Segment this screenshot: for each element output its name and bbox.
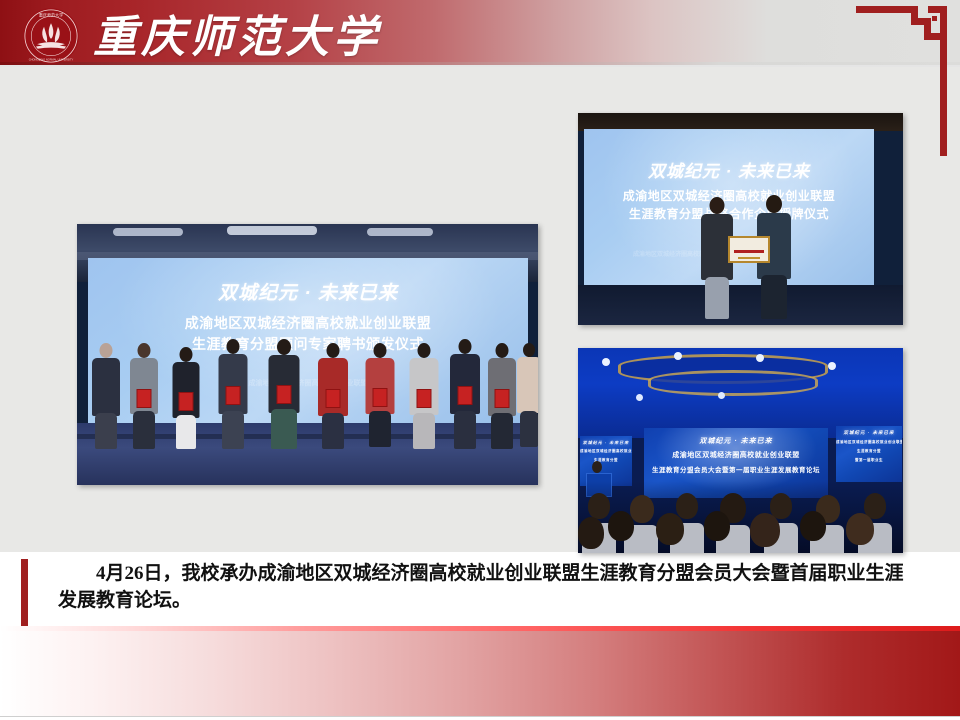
photo-plaque-award: 双城纪元 · 未来已来 成渝地区双城经济圈高校就业创业联盟 生涯教育分盟战略合作…	[578, 113, 903, 325]
slide-root: 重庆师范大学 CHONGQING NORMAL UNIVERSITY 重庆师范大…	[0, 0, 960, 720]
side-led-line-3-right: 暨第一届职业生	[836, 458, 902, 463]
photo-conference-hall: 双城纪元 · 未来已来 成渝地区双城经济圈高校就业创业联盟 生涯教育分盟会员大会…	[578, 348, 903, 553]
side-led-line-1-right: 成渝地区双城经济圈高校就业创业联盟	[836, 440, 902, 445]
svg-text:重庆师范大学: 重庆师范大学	[39, 11, 63, 17]
led-headline: 双城纪元 · 未来已来	[584, 157, 874, 182]
led-line-1: 成渝地区双城经济圈高校就业创业联盟	[644, 450, 828, 460]
side-led-headline: 双城纪元 · 未来已来	[580, 440, 632, 446]
side-led-line-2: 生涯教育分盟	[580, 458, 632, 463]
svg-text:CHONGQING NORMAL UNIVERSITY: CHONGQING NORMAL UNIVERSITY	[29, 57, 74, 61]
led-headline: 双城纪元 · 未来已来	[88, 278, 528, 305]
footer-gradient-band	[0, 631, 960, 716]
side-led-line-1: 成渝地区双城经济圈高校就业创业联盟	[580, 449, 632, 454]
photo-certificate-ceremony: 双城纪元 · 未来已来 成渝地区双城经济圈高校就业创业联盟 生涯教育分盟顾问专家…	[77, 224, 538, 485]
led-headline: 双城纪元 · 未来已来	[644, 436, 828, 446]
led-line-2: 生涯教育分盟会员大会暨第一届职业生涯发展教育论坛	[644, 464, 828, 474]
side-led-line-2-right: 生涯教育分盟	[836, 449, 902, 454]
footer-edge	[0, 716, 960, 720]
slide-caption: 4月26日，我校承办成渝地区双城经济圈高校就业创业联盟生涯教育分盟会员大会暨首届…	[58, 560, 918, 614]
university-seal-icon: 重庆师范大学 CHONGQING NORMAL UNIVERSITY	[22, 7, 80, 65]
page-title: 重庆师范大学	[93, 4, 381, 62]
side-led-headline-right: 双城纪元 · 未来已来	[836, 430, 902, 436]
led-line-1: 成渝地区双城经济圈高校就业创业联盟	[88, 313, 528, 333]
header-shadow-line	[0, 65, 960, 67]
